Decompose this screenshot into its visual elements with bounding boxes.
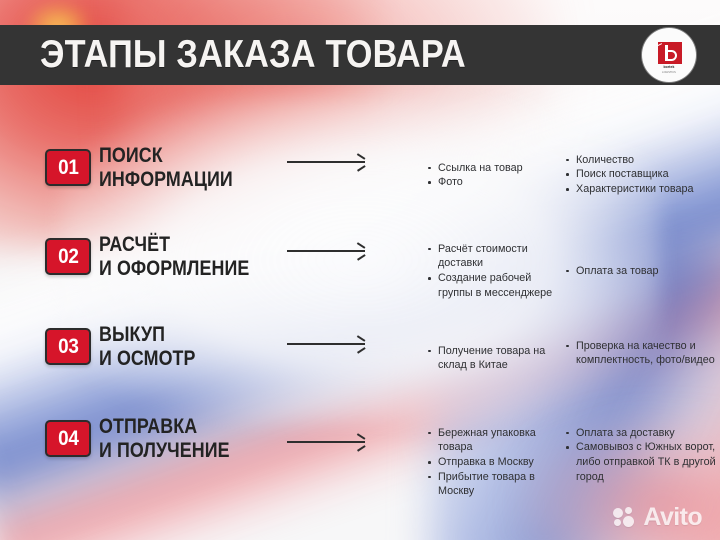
list-item: Количество <box>565 153 720 168</box>
step-badge-04: 04 <box>45 420 91 457</box>
list-item: Оплата за товар <box>565 264 720 279</box>
step-title-line1: ВЫКУП <box>99 322 165 346</box>
step-title-line2: И ОСМОТР <box>99 346 196 370</box>
page-title: ЭТАПЫ ЗАКАЗА ТОВАРА <box>40 28 466 82</box>
step-title-02: РАСЧЁТ И ОФОРМЛЕНИЕ <box>99 232 249 280</box>
step-title-04: ОТПРАВКА И ПОЛУЧЕНИЕ <box>99 414 230 462</box>
list-item: Оплата за доставку <box>565 426 720 441</box>
brand-name: bortek <box>654 65 684 69</box>
step-badge-03: 03 <box>45 328 91 365</box>
step-title-line2: И ОФОРМЛЕНИЕ <box>99 256 249 280</box>
avito-watermark: Avito <box>613 505 702 530</box>
avito-dots-icon <box>613 507 638 528</box>
brand-b-logo-icon: bortek LOGISTICS <box>654 42 684 68</box>
avito-wordmark: Avito <box>643 505 702 530</box>
list-item: Характеристики товара <box>565 182 720 197</box>
logo-letter-b <box>665 45 678 61</box>
step-badge-02: 02 <box>45 238 91 275</box>
step-title-01: ПОИСК ИНФОРМАЦИИ <box>99 143 233 191</box>
arrow-right-icon <box>287 436 365 448</box>
poster-canvas: ЭТАПЫ ЗАКАЗА ТОВАРА bortek LOGISTICS 01 … <box>0 0 720 540</box>
arrow-right-icon <box>287 338 365 350</box>
step-bullets-right-01: Количество Поиск поставщика Характеристи… <box>525 153 720 197</box>
brand-logo: bortek LOGISTICS <box>642 28 696 82</box>
step-bullets-right-02: Оплата за товар <box>525 264 720 279</box>
step-number: 04 <box>58 428 78 449</box>
step-title-line2: И ПОЛУЧЕНИЕ <box>99 438 230 462</box>
step-number: 02 <box>58 246 78 267</box>
list-item: Самовывоз с Южных ворот, либо отправкой … <box>565 440 720 484</box>
step-number: 01 <box>58 157 78 178</box>
step-number: 03 <box>58 336 78 357</box>
step-bullets-right-03: Проверка на качество и комплектность, фо… <box>525 339 720 368</box>
step-title-line2: ИНФОРМАЦИИ <box>99 167 233 191</box>
arrow-right-icon <box>287 245 365 257</box>
step-title-line1: ПОИСК <box>99 143 163 167</box>
list-item: Поиск поставщика <box>565 167 720 182</box>
arrow-right-icon <box>287 156 365 168</box>
step-bullets-right-04: Оплата за доставку Самовывоз с Южных вор… <box>525 426 720 484</box>
step-title-line1: ОТПРАВКА <box>99 414 197 438</box>
brand-subtitle: LOGISTICS <box>654 71 684 74</box>
step-title-03: ВЫКУП И ОСМОТР <box>99 322 196 370</box>
step-title-line1: РАСЧЁТ <box>99 232 170 256</box>
list-item: Проверка на качество и комплектность, фо… <box>565 339 720 368</box>
step-badge-01: 01 <box>45 149 91 186</box>
